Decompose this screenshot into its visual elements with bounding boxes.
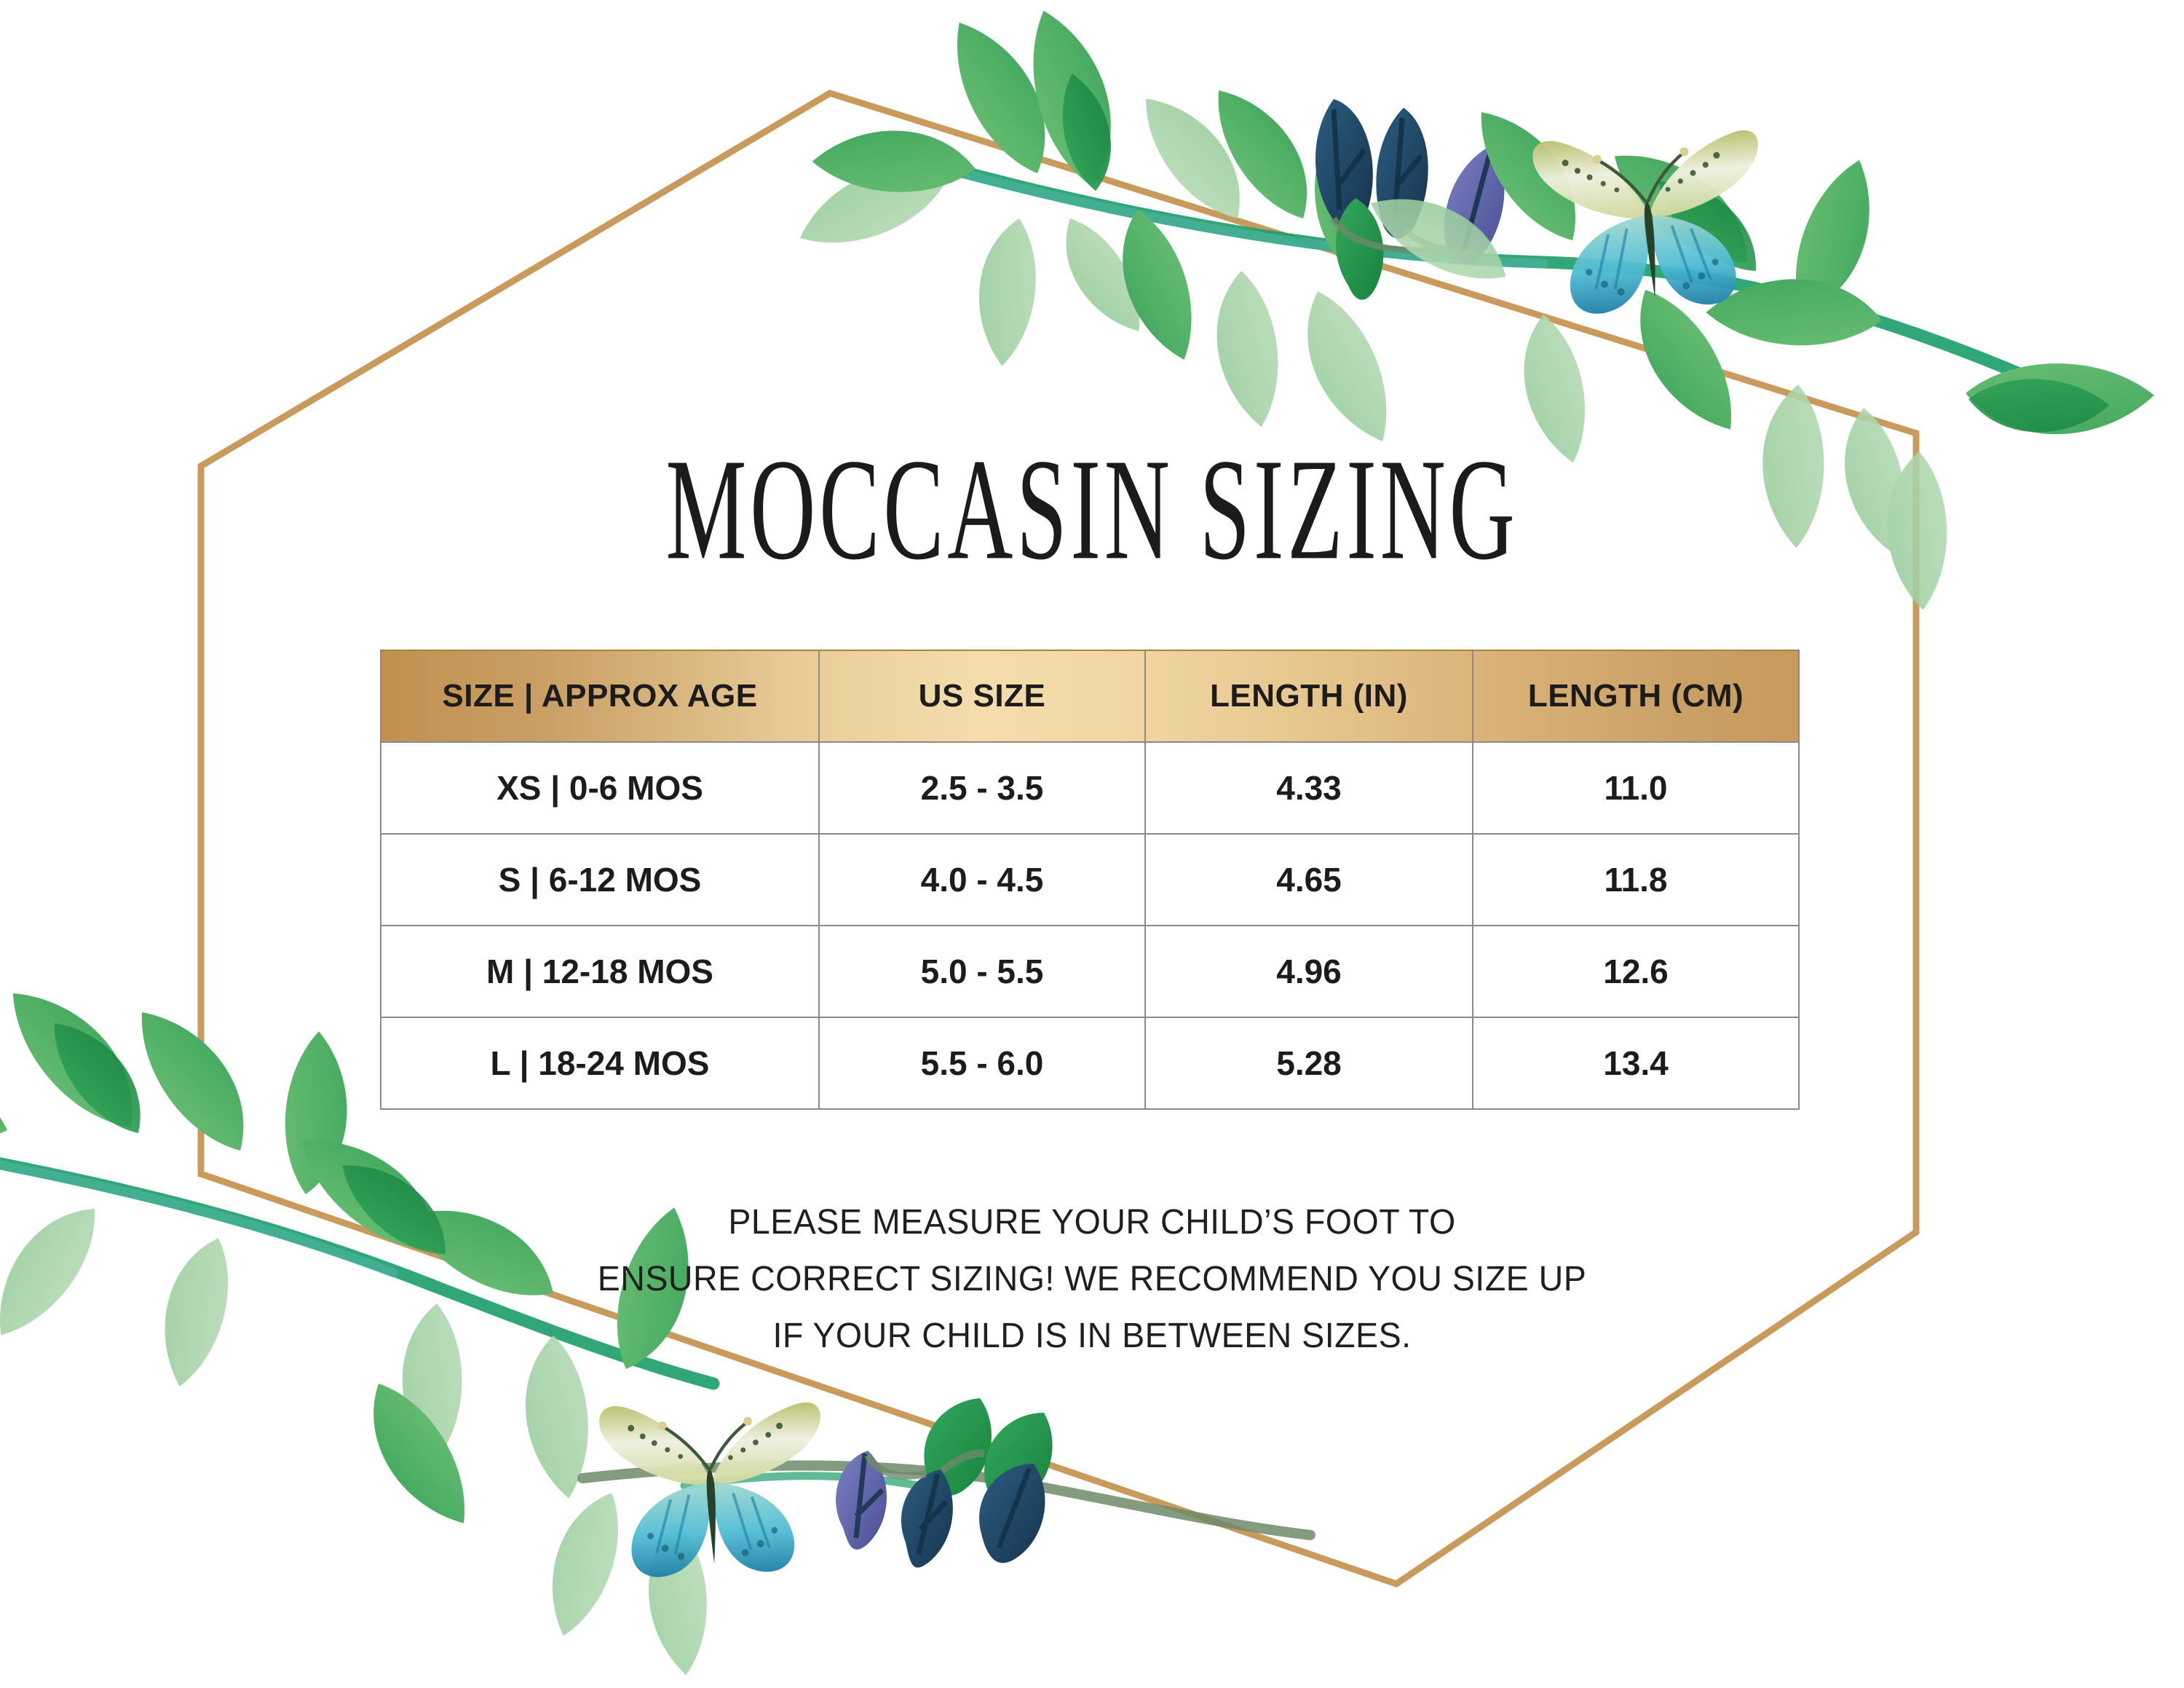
table-header-row: SIZE | APPROX AGE US SIZE LENGTH (IN) LE…: [381, 650, 1799, 742]
cell-size-age: M | 12-18 MOS: [381, 926, 819, 1017]
cell-size-age: XS | 0-6 MOS: [381, 742, 819, 834]
sizing-table: SIZE | APPROX AGE US SIZE LENGTH (IN) LE…: [380, 650, 1800, 1110]
cell-length-cm: 11.0: [1473, 742, 1799, 834]
cell-size-age: L | 18-24 MOS: [381, 1017, 819, 1109]
cell-length-in: 4.65: [1145, 834, 1473, 926]
sizing-chart-page: MOCCASIN SIZING SIZE | APPROX AGE US SIZ…: [0, 0, 2184, 1688]
cell-length-cm: 11.8: [1473, 834, 1799, 926]
cell-us-size: 4.0 - 4.5: [819, 834, 1145, 926]
column-header-us-size: US SIZE: [819, 650, 1145, 742]
berry-cluster-bottom: [836, 1398, 1052, 1568]
note-line-3: IF YOUR CHILD IS IN BETWEEN SIZES.: [386, 1308, 1798, 1365]
cell-length-in: 4.33: [1145, 742, 1473, 834]
cell-us-size: 5.5 - 6.0: [819, 1017, 1145, 1109]
cell-us-size: 2.5 - 3.5: [819, 742, 1145, 834]
cell-us-size: 5.0 - 5.5: [819, 926, 1145, 1017]
cell-size-age: S | 6-12 MOS: [381, 834, 819, 926]
butterfly-bottom-left: [598, 1399, 826, 1579]
measurement-note: PLEASE MEASURE YOUR CHILD’S FOOT TO ENSU…: [364, 1194, 1820, 1364]
page-title: MOCCASIN SIZING: [218, 437, 1966, 583]
table-row: M | 12-18 MOS 5.0 - 5.5 4.96 12.6: [381, 926, 1799, 1017]
berry-cluster-top: [1315, 99, 1504, 300]
column-header-size-age: SIZE | APPROX AGE: [381, 650, 819, 742]
note-line-2: ENSURE CORRECT SIZING! WE RECOMMEND YOU …: [386, 1251, 1798, 1308]
table-row: XS | 0-6 MOS 2.5 - 3.5 4.33 11.0: [381, 742, 1799, 834]
column-header-length-cm: LENGTH (CM): [1473, 650, 1799, 742]
cell-length-in: 5.28: [1145, 1017, 1473, 1109]
table-row: S | 6-12 MOS 4.0 - 4.5 4.65 11.8: [381, 834, 1799, 926]
cell-length-in: 4.96: [1145, 926, 1473, 1017]
column-header-length-in: LENGTH (IN): [1145, 650, 1473, 742]
cell-length-cm: 13.4: [1473, 1017, 1799, 1109]
butterfly-top-right: [1532, 127, 1769, 318]
cell-length-cm: 12.6: [1473, 926, 1799, 1017]
table-row: L | 18-24 MOS 5.5 - 6.0 5.28 13.4: [381, 1017, 1799, 1109]
note-line-1: PLEASE MEASURE YOUR CHILD’S FOOT TO: [386, 1194, 1798, 1251]
